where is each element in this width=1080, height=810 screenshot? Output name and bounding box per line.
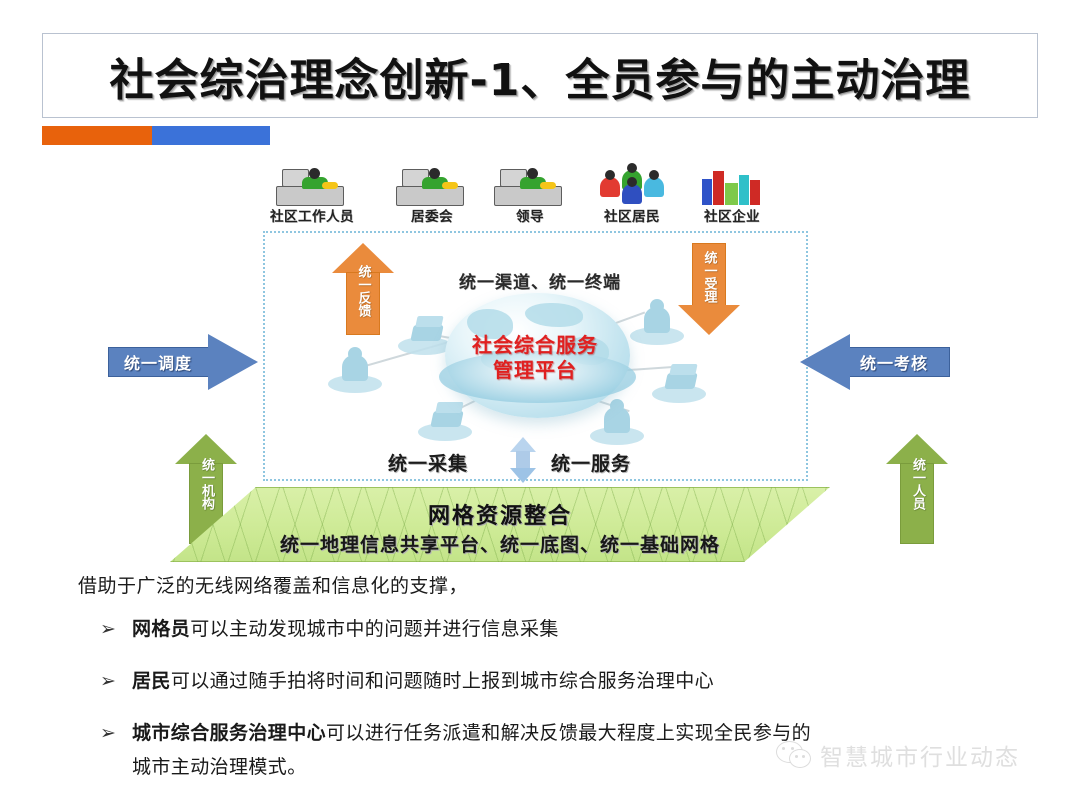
role-label: 居委会: [382, 205, 482, 225]
platform-label: 社会综合服务 管理平台: [300, 333, 770, 383]
bullet-bold-term: 网格员: [132, 618, 190, 640]
people-group-icon: [582, 167, 682, 205]
bullet-rest: 可以通过随手拍将时间和问题随时上报到城市综合服务治理中心: [171, 670, 714, 692]
double-arrow-icon: [505, 437, 541, 483]
arrow-unified-dispatch: 统一调度: [108, 334, 258, 390]
arrow-label: 统一受理: [702, 251, 717, 303]
watermark: 智慧城市行业动态: [776, 738, 1020, 772]
arrow-label: 统一调度: [124, 350, 192, 374]
grid-resource-base: 网格资源整合 统一地理信息共享平台、统一底图、统一基础网格: [170, 487, 830, 562]
desk-worker-icon: [262, 167, 362, 205]
role-residents: 社区居民: [582, 167, 682, 225]
bullet-bold-term: 居民: [132, 670, 171, 692]
role-label: 社区居民: [582, 205, 682, 225]
role-enterprises: 社区企业: [682, 167, 782, 225]
role-label: 领导: [480, 205, 580, 225]
buildings-icon: [682, 167, 782, 205]
desk-worker-icon: [382, 167, 482, 205]
arrow-label: 统一反馈: [356, 265, 371, 317]
bullet-rest: 可以进行任务派遣和解决反馈最大程度上实现全民参与的: [326, 722, 811, 744]
list-item: ➢ 居民可以通过随手拍将时间和问题随时上报到城市综合服务治理中心: [78, 666, 998, 696]
bullet-marker-icon: ➢: [100, 666, 116, 696]
slide-canvas: 社会综治理念创新-1、全员参与的主动治理 社区工作人员 居委会 领导: [0, 0, 1080, 810]
arrow-unified-acceptance: 统一受理: [678, 243, 740, 335]
role-label: 社区企业: [682, 205, 782, 225]
arrow-label: 统一考核: [860, 350, 928, 374]
base-subtitle: 统一地理信息共享平台、统一底图、统一基础网格: [170, 530, 830, 557]
role-neighborhood-committee: 居委会: [382, 167, 482, 225]
accent-bar-blue: [152, 126, 270, 145]
role-leader: 领导: [480, 167, 580, 225]
page-title: 社会综治理念创新-1、全员参与的主动治理: [43, 44, 1037, 108]
arrow-unified-assessment: 统一考核: [800, 334, 950, 390]
bullet-marker-icon: ➢: [100, 718, 116, 748]
arrow-unified-staff: 统一人员: [886, 434, 948, 544]
arrow-label: 统一人员: [909, 458, 925, 510]
wechat-logo-icon: [776, 741, 810, 769]
label-unified-service: 统一服务: [551, 449, 631, 476]
role-community-worker: 社区工作人员: [262, 167, 362, 225]
roles-row: 社区工作人员 居委会 领导 社区居民 社区企业: [262, 167, 782, 227]
label-unified-collection: 统一采集: [388, 449, 468, 476]
base-title: 网格资源整合: [170, 498, 830, 530]
bullet-bold-term: 城市综合服务治理中心: [132, 722, 326, 744]
watermark-text: 智慧城市行业动态: [820, 738, 1020, 772]
accent-bar-orange: [42, 126, 152, 145]
title-box: 社会综治理念创新-1、全员参与的主动治理: [42, 33, 1038, 118]
unified-channel-text: 统一渠道、统一终端: [400, 268, 680, 293]
bullet-rest: 可以主动发现城市中的问题并进行信息采集: [190, 618, 559, 640]
list-item: ➢ 网格员可以主动发现城市中的问题并进行信息采集: [78, 614, 998, 644]
role-label: 社区工作人员: [262, 205, 362, 225]
lead-paragraph: 借助于广泛的无线网络覆盖和信息化的支撑，: [78, 572, 998, 600]
arrow-unified-feedback: 统一反馈: [332, 243, 394, 335]
bullet-marker-icon: ➢: [100, 614, 116, 644]
desk-worker-icon: [480, 167, 580, 205]
